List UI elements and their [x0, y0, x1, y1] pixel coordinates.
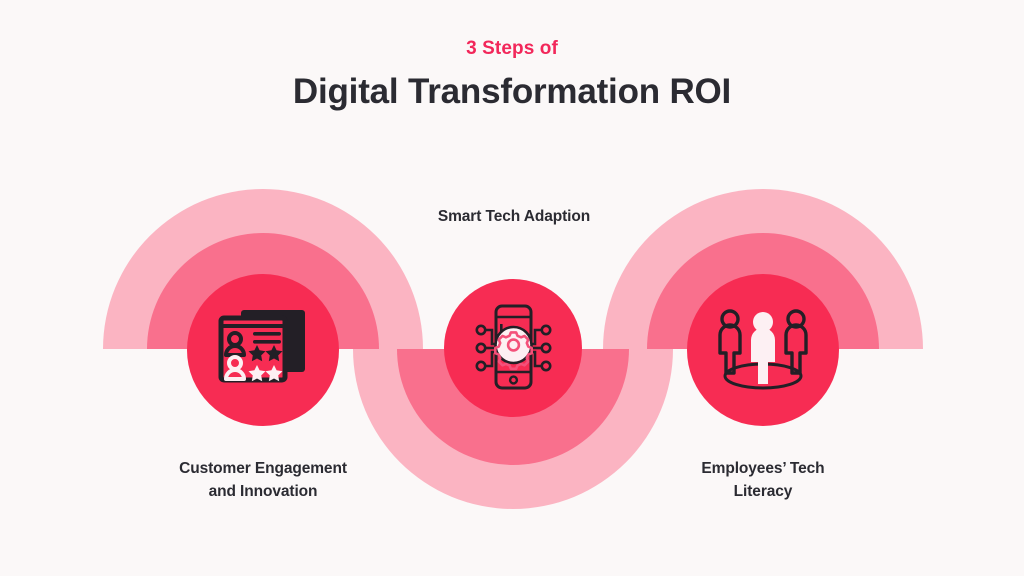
step-label-line-1: Customer Engagement: [143, 457, 383, 480]
step-label-employees-tech-literacy: Employees’ Tech Literacy: [663, 457, 863, 503]
eyebrow-text: 3 Steps of: [0, 36, 1024, 62]
page-title: Digital Transformation ROI: [0, 70, 1024, 114]
smartphone-gear-circuit-icon: [475, 300, 552, 397]
three-people-group-icon: [711, 307, 815, 391]
step-label-customer-engagement: Customer Engagement and Innovation: [143, 457, 383, 503]
customer-review-cards-icon: [213, 302, 313, 398]
step-label-line-1: Smart Tech Adaption: [394, 205, 634, 228]
step-label-line-1: Employees’ Tech: [663, 457, 863, 480]
infographic-canvas: 3 Steps of Digital Transformation ROI: [0, 0, 1024, 576]
header-block: 3 Steps of Digital Transformation ROI: [0, 36, 1024, 114]
step-label-line-2: Literacy: [663, 480, 863, 503]
step-label-line-2: and Innovation: [143, 480, 383, 503]
step-label-smart-tech-adaption: Smart Tech Adaption: [394, 205, 634, 228]
